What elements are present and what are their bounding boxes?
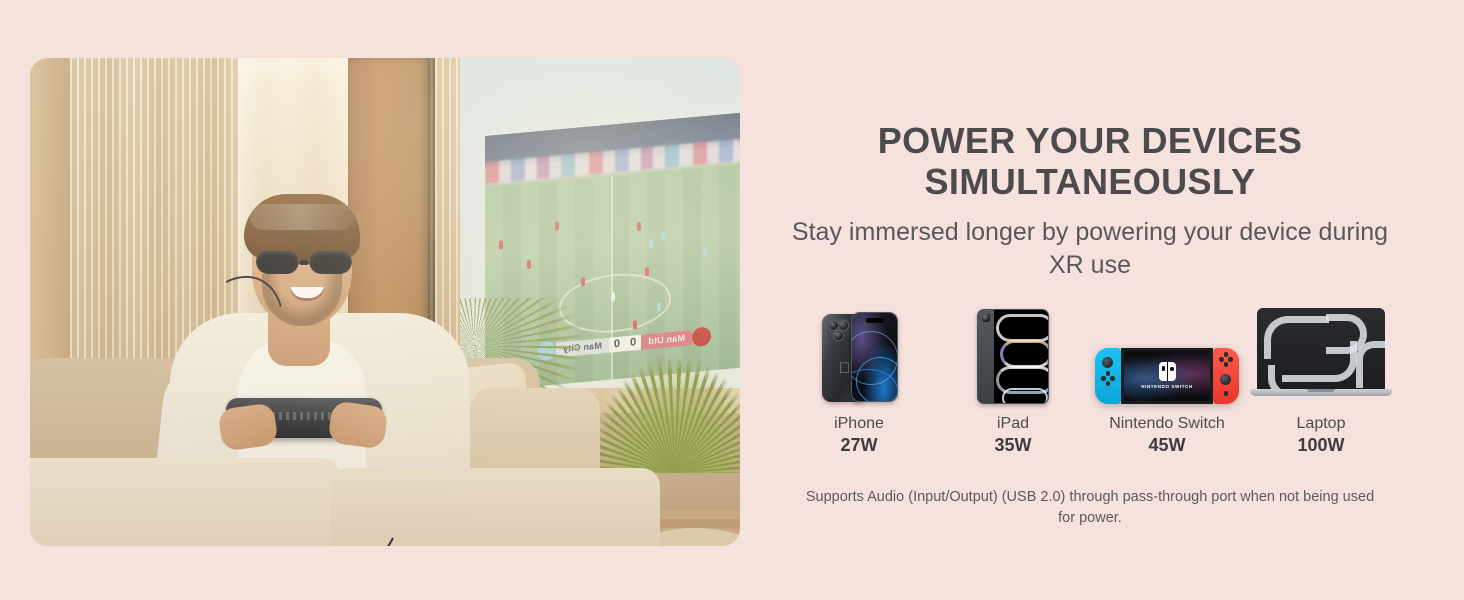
player-marker [633, 320, 637, 329]
camera-module-icon [827, 319, 850, 342]
sunglasses-left-lens [256, 251, 299, 274]
device-name-label: Nintendo Switch [1109, 414, 1225, 434]
player-marker [611, 292, 615, 301]
analog-stick-icon [1220, 374, 1231, 385]
device-name-label: iPad [997, 414, 1029, 434]
nintendo-switch-logo-icon [1159, 362, 1176, 381]
sunglasses-right-lens [309, 251, 352, 274]
face-button-icon [1224, 362, 1229, 367]
device-item-iphone:  iPhone 27W [784, 308, 934, 457]
face-button-icon [1228, 357, 1233, 362]
home-team-crest [692, 326, 711, 347]
dpad-dot-icon [1106, 371, 1111, 376]
player-marker [499, 240, 503, 249]
analog-stick-icon [1102, 357, 1113, 368]
player-marker [703, 248, 707, 257]
joycon-left [1095, 348, 1121, 404]
player-marker [637, 222, 641, 231]
switch-screen: NINTENDO SWITCH [1121, 348, 1213, 404]
iphone-front-view [851, 312, 898, 402]
sunglasses-bridge [299, 260, 309, 265]
face-button-icon [1219, 357, 1224, 362]
page-title: POWER YOUR DEVICES SIMULTANEOUSLY [770, 120, 1410, 202]
dynamic-island-icon [866, 318, 884, 323]
device-name-label: iPhone [834, 414, 884, 434]
ipad-back-edge [978, 310, 994, 403]
promotional-banner: Man Utd 0 0 Man City [0, 0, 1464, 600]
lifestyle-photo: Man Utd 0 0 Man City [30, 58, 740, 546]
nintendo-switch-icon: NINTENDO SWITCH [1095, 348, 1239, 404]
face-button-icon [1224, 352, 1229, 357]
away-team-score: 0 [609, 336, 625, 352]
device-wattage-label: 45W [1148, 434, 1185, 457]
xr-sunglasses-icon [256, 250, 352, 274]
camera-lens-icon [982, 314, 990, 322]
wallpaper-ribbon [996, 314, 1048, 342]
device-item-nintendo-switch: NINTENDO SWITCH Nintendo Switch 45W [1092, 308, 1242, 457]
player-marker [555, 221, 559, 230]
device-name-label: Laptop [1297, 414, 1346, 434]
dpad-dot-icon [1101, 376, 1106, 381]
nintendo-switch-art: NINTENDO SWITCH [1095, 308, 1239, 404]
dpad-dot-icon [1106, 381, 1111, 386]
player-marker [649, 239, 653, 248]
dpad-dot-icon [1110, 376, 1115, 381]
device-wattage-label: 27W [840, 434, 877, 457]
device-item-ipad: iPad 35W [938, 308, 1088, 457]
joycon-right [1213, 348, 1239, 404]
device-wattage-label: 100W [1297, 434, 1344, 457]
switch-logo-wordmark: NINTENDO SWITCH [1141, 384, 1193, 390]
player-marker [581, 277, 585, 286]
palm-plant [590, 358, 740, 473]
iphone-icon:  [822, 312, 896, 404]
ipad-art [977, 308, 1049, 404]
home-team-name: Man Utd [641, 330, 692, 350]
device-item-laptop: Laptop 100W [1246, 308, 1396, 457]
ipad-screen [994, 310, 1048, 403]
laptop-lid [1257, 308, 1385, 390]
subtitle: Stay immersed longer by powering your de… [790, 216, 1390, 282]
iphone-art:  [822, 308, 896, 404]
laptop-art [1250, 308, 1392, 404]
supported-devices-list:  iPhone 27W [770, 308, 1410, 457]
home-button-icon [1224, 391, 1229, 396]
home-team-score: 0 [625, 335, 641, 351]
ipad-icon [977, 309, 1049, 404]
copy-column: POWER YOUR DEVICES SIMULTANEOUSLY Stay i… [770, 58, 1410, 546]
wallpaper-ribbon [1000, 340, 1048, 368]
player-marker [661, 232, 665, 241]
player-marker [657, 302, 661, 311]
player-marker [527, 260, 531, 269]
laptop-trackpad-notch [1307, 389, 1335, 392]
device-wattage-label: 35W [994, 434, 1031, 457]
laptop-icon [1250, 308, 1392, 404]
footnote-text: Supports Audio (Input/Output) (USB 2.0) … [797, 487, 1383, 529]
player-marker [645, 267, 649, 276]
wallpaper-ribbon [1002, 388, 1048, 403]
camera-lens-icon [833, 330, 844, 341]
